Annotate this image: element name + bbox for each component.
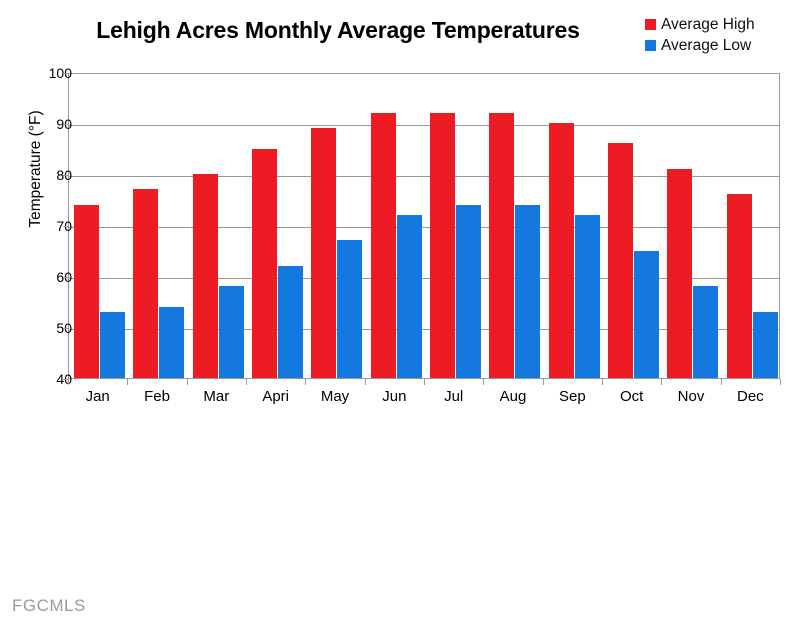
bar-aug-low[interactable]	[515, 205, 540, 378]
chart-title: Lehigh Acres Monthly Average Temperature…	[68, 17, 608, 44]
legend-label-average-high: Average High	[661, 16, 755, 34]
bar-group	[128, 74, 187, 378]
x-tick-label-mar: Mar	[203, 388, 229, 405]
x-tick-label-oct: Oct	[620, 388, 643, 405]
x-tick-mark	[721, 379, 722, 385]
y-tick-mark	[63, 124, 68, 125]
bar-group	[603, 74, 662, 378]
x-tick-label-feb: Feb	[144, 388, 170, 405]
bar-dec-low[interactable]	[753, 312, 778, 378]
legend-swatch-average-low	[645, 40, 656, 51]
x-tick-label-nov: Nov	[678, 388, 705, 405]
x-tick-mark	[68, 379, 69, 385]
y-tick-mark	[63, 73, 68, 74]
x-tick-label-sep: Sep	[559, 388, 586, 405]
bar-apri-low[interactable]	[278, 266, 303, 378]
bar-jun-high[interactable]	[371, 113, 396, 378]
bar-group	[484, 74, 543, 378]
chart-legend: Average High Average Low	[645, 14, 755, 56]
bar-group	[188, 74, 247, 378]
x-tick-mark	[187, 379, 188, 385]
x-tick-label-jun: Jun	[382, 388, 406, 405]
bar-may-high[interactable]	[311, 128, 336, 378]
bar-jan-low[interactable]	[100, 312, 125, 378]
x-tick-mark	[127, 379, 128, 385]
bar-mar-low[interactable]	[219, 286, 244, 378]
bar-group	[366, 74, 425, 378]
x-tick-label-may: May	[321, 388, 349, 405]
legend-swatch-average-high	[645, 19, 656, 30]
plot-area	[68, 73, 780, 379]
bar-sep-low[interactable]	[575, 215, 600, 378]
y-tick-mark	[63, 175, 68, 176]
bar-oct-low[interactable]	[634, 251, 659, 379]
bar-jan-high[interactable]	[74, 205, 99, 378]
x-tick-mark	[602, 379, 603, 385]
bar-jul-high[interactable]	[430, 113, 455, 378]
bar-nov-low[interactable]	[693, 286, 718, 378]
bar-feb-high[interactable]	[133, 189, 158, 378]
bar-apri-high[interactable]	[252, 149, 277, 379]
x-tick-mark	[661, 379, 662, 385]
x-tick-label-apri: Apri	[262, 388, 289, 405]
bar-mar-high[interactable]	[193, 174, 218, 378]
bar-group	[544, 74, 603, 378]
legend-item-average-high[interactable]: Average High	[645, 14, 755, 35]
y-tick-mark	[63, 328, 68, 329]
bars-layer	[69, 74, 779, 378]
y-tick-mark	[63, 226, 68, 227]
x-tick-mark	[365, 379, 366, 385]
bar-group	[662, 74, 721, 378]
bar-dec-high[interactable]	[727, 194, 752, 378]
bar-sep-high[interactable]	[549, 123, 574, 378]
bar-aug-high[interactable]	[489, 113, 514, 378]
bar-group	[425, 74, 484, 378]
watermark: FGCMLS	[12, 596, 86, 616]
bar-jul-low[interactable]	[456, 205, 481, 378]
x-tick-mark	[483, 379, 484, 385]
bar-group	[69, 74, 128, 378]
bar-feb-low[interactable]	[159, 307, 184, 378]
x-tick-mark	[305, 379, 306, 385]
bar-group	[722, 74, 781, 378]
x-tick-label-dec: Dec	[737, 388, 764, 405]
x-tick-mark	[424, 379, 425, 385]
x-tick-mark	[246, 379, 247, 385]
x-tick-label-jul: Jul	[444, 388, 463, 405]
bar-oct-high[interactable]	[608, 143, 633, 378]
x-tick-label-aug: Aug	[500, 388, 527, 405]
bar-group	[306, 74, 365, 378]
x-tick-label-jan: Jan	[86, 388, 110, 405]
y-tick-mark	[63, 277, 68, 278]
bar-nov-high[interactable]	[667, 169, 692, 378]
x-tick-mark	[780, 379, 781, 385]
legend-label-average-low: Average Low	[661, 37, 751, 55]
legend-item-average-low[interactable]: Average Low	[645, 35, 755, 56]
x-tick-mark	[543, 379, 544, 385]
bar-group	[247, 74, 306, 378]
bar-jun-low[interactable]	[397, 215, 422, 378]
bar-may-low[interactable]	[337, 240, 362, 378]
